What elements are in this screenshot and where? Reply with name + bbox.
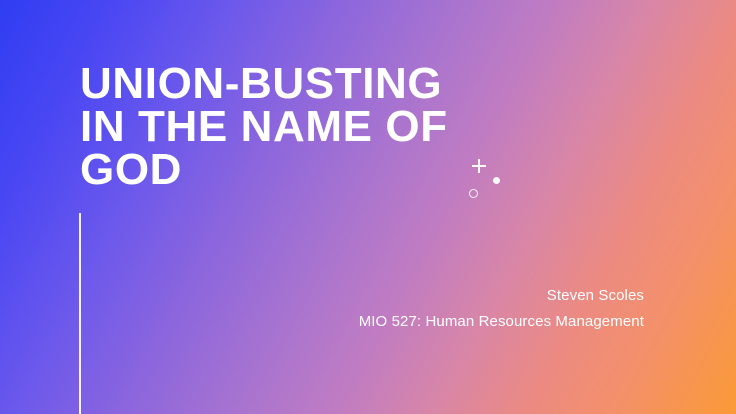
outline-circle-icon — [469, 189, 478, 198]
plus-icon — [472, 159, 486, 173]
page-title: Union-Busting in the Name of God — [80, 62, 520, 191]
byline: Steven Scoles MIO 527: Human Resources M… — [359, 283, 644, 335]
title-slide: Union-Busting in the Name of God Steven … — [0, 0, 736, 414]
author-name: Steven Scoles — [359, 283, 644, 309]
course-name: MIO 527: Human Resources Management — [359, 309, 644, 335]
vertical-rule-decoration — [79, 213, 81, 414]
filled-dot-icon — [493, 177, 500, 184]
